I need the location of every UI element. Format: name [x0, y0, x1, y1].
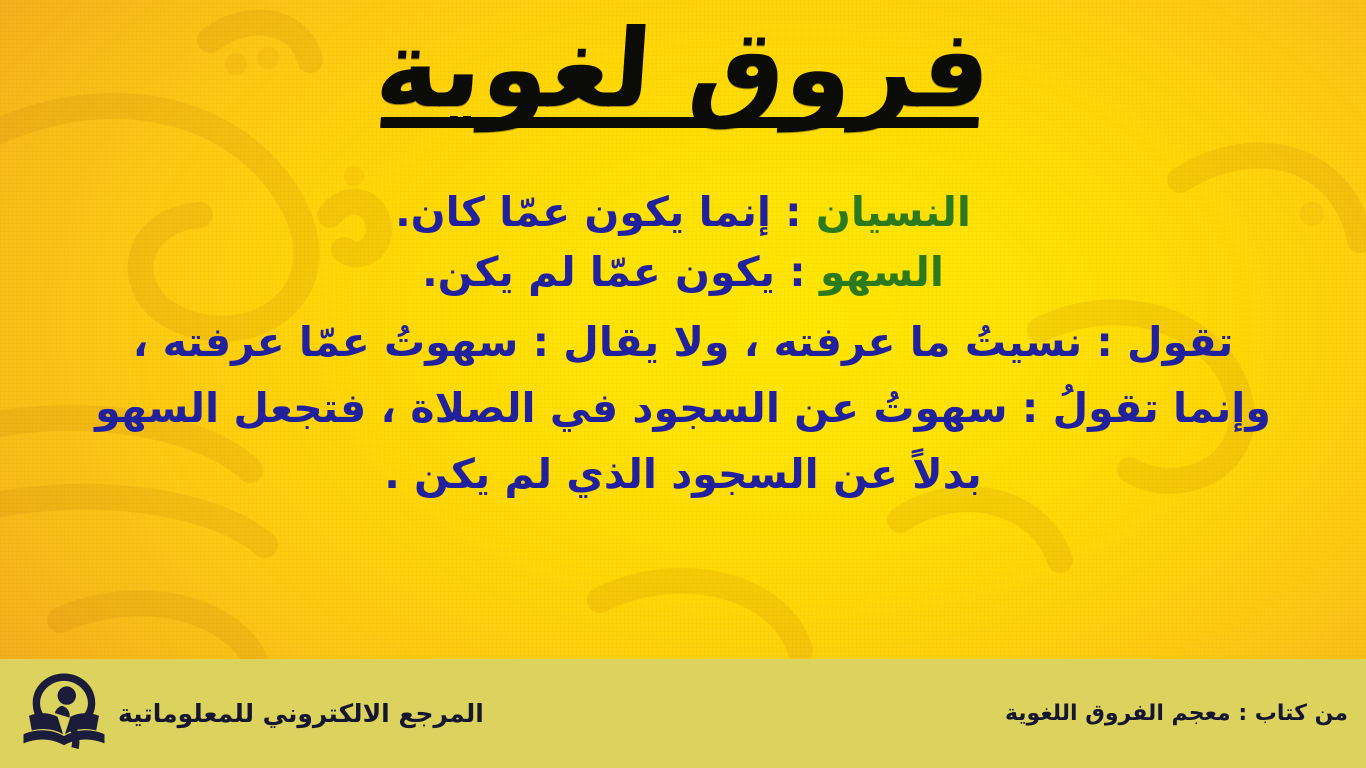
definition-term: السهو [820, 248, 944, 296]
content-body: النسيان : إنما يكون عمّا كان. السهو : يك… [22, 186, 1344, 512]
brand-block: المرجع الالكتروني للمعلوماتية [18, 668, 484, 760]
reader-book-logo-icon [18, 668, 110, 760]
definition-separator: : [775, 248, 820, 296]
page-title: فروق لغوية [353, 4, 1013, 142]
source-label: من كتاب : معجم الفروق اللغوية [1005, 701, 1348, 726]
definition-text: يكون عمّا لم يكن. [422, 248, 775, 296]
definition-row: النسيان : إنما يكون عمّا كان. [22, 186, 1344, 238]
definition-row: السهو : يكون عمّا لم يكن. [22, 246, 1344, 298]
title-underline [380, 117, 979, 128]
brand-name: المرجع الالكتروني للمعلوماتية [118, 699, 484, 728]
explanation-line: بدلاً عن السجود الذي لم يكن . [30, 445, 1336, 503]
definition-term: النسيان [816, 188, 971, 236]
explanation-paragraph: تقول : نسيتُ ما عرفته ، ولا يقال : سهوتُ… [22, 313, 1344, 504]
title-area: فروق لغوية [0, 4, 1366, 142]
definition-separator: : [771, 188, 816, 236]
explanation-line: تقول : نسيتُ ما عرفته ، ولا يقال : سهوتُ… [30, 313, 1336, 371]
page-title-text: فروق لغوية [372, 7, 995, 132]
infographic-card: فروق لغوية النسيان : إنما يكون عمّا كان.… [0, 0, 1366, 768]
footer-bar: من كتاب : معجم الفروق اللغوية المرجع الا… [0, 659, 1366, 768]
definition-text: إنما يكون عمّا كان. [395, 188, 771, 236]
explanation-line: وإنما تقولُ : سهوتُ عن السجود في الصلاة … [30, 379, 1336, 437]
